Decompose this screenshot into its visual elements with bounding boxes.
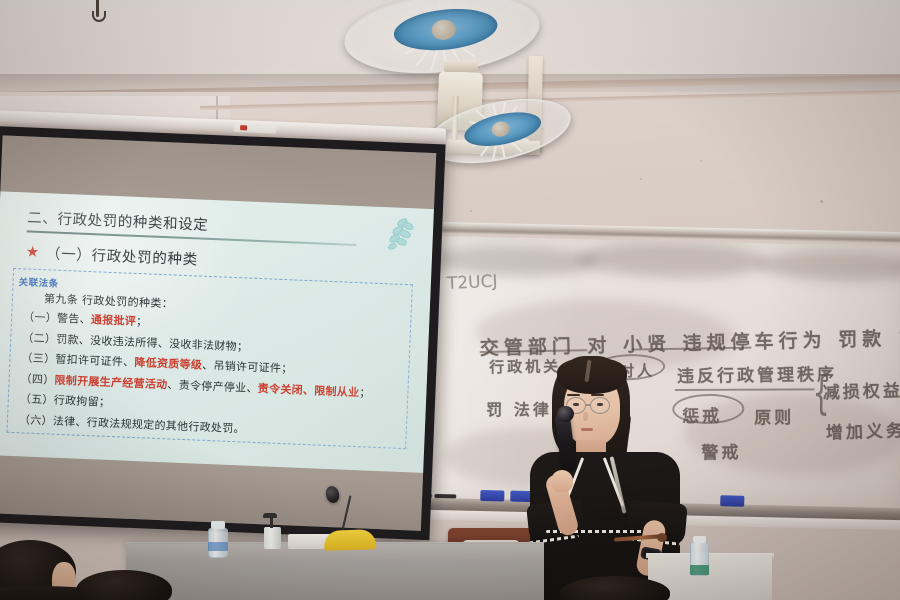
- slide-subtitle: （一）行政处罚的种类: [46, 242, 199, 269]
- whiteboard-note: 增加义务: [826, 416, 900, 443]
- whiteboard-note: 减损权益: [822, 376, 900, 403]
- wall-speck: [640, 178, 642, 180]
- eyebrow: [567, 394, 580, 396]
- law-callout-tag: 关联法条: [18, 274, 59, 290]
- whiteboard-eraser[interactable]: [480, 490, 504, 502]
- law-item-highlight: 限制开展生产经营活动: [54, 373, 167, 391]
- law-item-number: （四）: [20, 372, 54, 386]
- hair-fringe: [557, 358, 627, 394]
- law-item-highlight: 通报批评: [91, 313, 137, 328]
- law-item-highlight: 责令关闭、限制从业: [258, 382, 360, 399]
- law-item-highlight: 降低资质等级: [134, 356, 202, 372]
- water-bottle-label: [690, 565, 709, 575]
- water-bottle-label: [208, 542, 228, 551]
- whiteboard-note: T2UCJ: [447, 272, 498, 294]
- law-item-number: （三）: [21, 351, 55, 365]
- whiteboard-smudge: [757, 249, 900, 283]
- eyebrow: [591, 394, 604, 396]
- screen-roller-label: [234, 123, 276, 134]
- lectern-podium: [126, 544, 544, 600]
- whiteboard-eraser[interactable]: [720, 495, 744, 507]
- eyeglasses-lens: [590, 397, 610, 414]
- leaf-sprig-icon: [374, 211, 422, 259]
- law-item-text: 暂扣许可证件、: [55, 353, 135, 369]
- star-icon: ★: [26, 244, 41, 260]
- hand: [551, 470, 573, 492]
- law-item-text: 、责令停产停业、: [167, 378, 258, 395]
- classroom-photo: T2UCJ 交管部门 对 小贤 违规停车行为 罚款 100 行政机关 相对人 违…: [0, 0, 900, 600]
- wall-speck: [470, 210, 472, 212]
- wall-speck: [700, 160, 702, 162]
- law-item-number: （五）: [20, 392, 54, 406]
- pointer-stick-tip: [657, 533, 667, 542]
- law-item-text: ；: [136, 315, 148, 328]
- slide-title: 二、行政处罚的种类和设定: [27, 206, 358, 241]
- whiteboard-marker[interactable]: [434, 494, 456, 498]
- law-item-text: 行政拘留；: [53, 394, 110, 409]
- slide-title-block: 二、行政处罚的种类和设定: [27, 206, 358, 245]
- slide-subtitle-block: ★ （一）行政处罚的种类: [25, 241, 198, 269]
- law-item-text: ；: [359, 386, 371, 399]
- water-bottle-cap: [211, 521, 225, 529]
- nose: [583, 412, 588, 421]
- sanitizer-pump-head: [263, 513, 277, 518]
- screen-surface: 二、行政处罚的种类和设定 ★ （一）行政处罚的种类 关联法条 第九条 行政处罚的…: [0, 135, 436, 530]
- whiteboard-note: 原则: [754, 403, 794, 429]
- hand-sanitizer-bottle: [264, 527, 281, 549]
- fan-ceiling-mount: [444, 60, 478, 72]
- law-item-number: （六）: [19, 413, 53, 427]
- law-item-text: 法律、行政法规规定的其他行政处罚。: [53, 414, 245, 435]
- presentation-slide: 二、行政处罚的种类和设定 ★ （一）行政处罚的种类 关联法条 第九条 行政处罚的…: [0, 191, 434, 473]
- law-item-text: 、吊销许可证件；: [202, 359, 293, 376]
- law-item-number: （二）: [22, 331, 56, 345]
- law-item-list: （一）警告、通报批评；（二）罚款、没收违法所得、没收非法财物；（三）暂扣许可证件…: [19, 307, 414, 446]
- water-bottle-cap: [693, 536, 706, 543]
- screen-frame: 二、行政处罚的种类和设定 ★ （一）行政处罚的种类 关联法条 第九条 行政处罚的…: [0, 126, 446, 540]
- mouth: [581, 428, 593, 431]
- yellow-folder: [324, 529, 377, 551]
- law-item-text: 警告、: [57, 312, 91, 326]
- eyeglasses-bridge: [585, 404, 591, 406]
- whiteboard-smudge: [577, 241, 768, 279]
- wall-speck: [820, 200, 823, 203]
- ceiling-hook-icon: [96, 0, 99, 17]
- whiteboard-note: 警戒: [701, 438, 741, 464]
- projection-screen: 二、行政处罚的种类和设定 ★ （一）行政处罚的种类 关联法条 第九条 行政处罚的…: [0, 126, 446, 540]
- law-item-number: （一）: [23, 310, 57, 324]
